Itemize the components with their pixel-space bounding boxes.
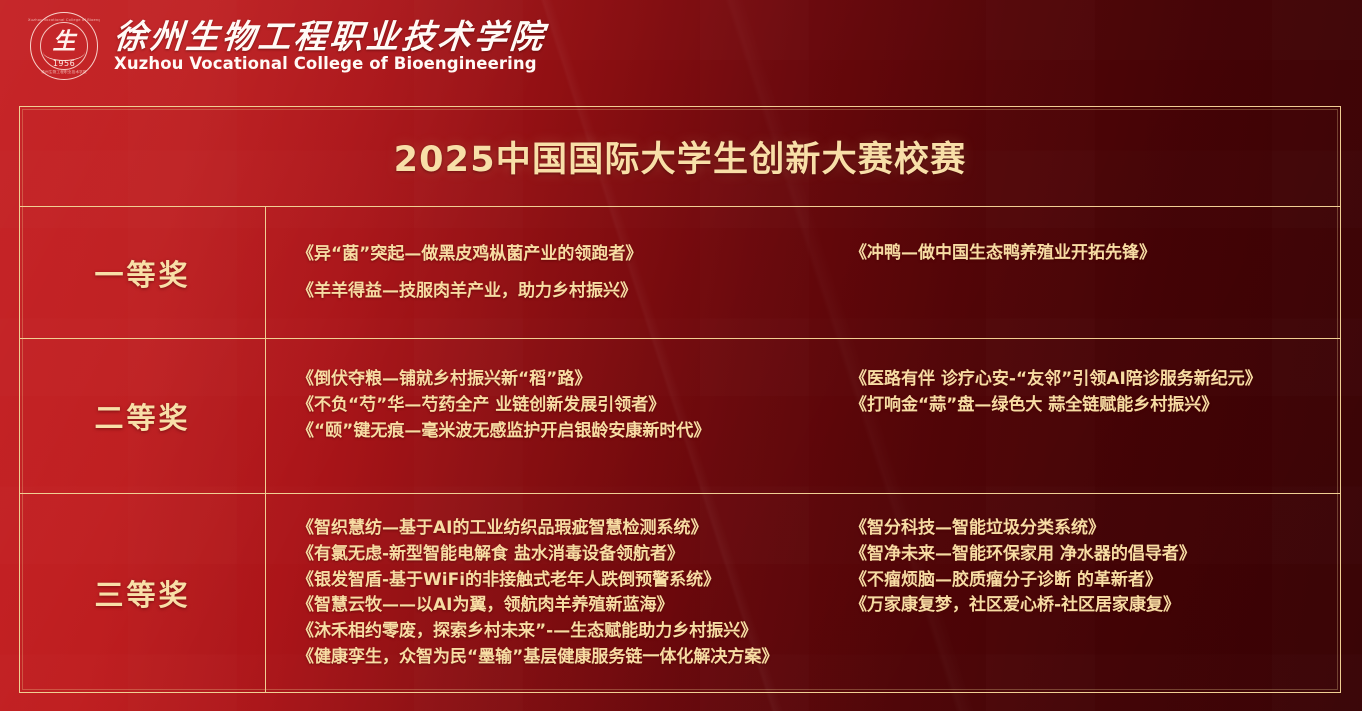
seal-micro-text-top: Xuzhou Vocational College of Bioengineer… [28, 18, 100, 22]
table-row: 二等奖 《倒伏夺粮—铺就乡村振兴新“稻”路》 《不负“芍”华—芍药全产 业链创新… [20, 339, 1340, 494]
rank-cell-second-prize: 二等奖 [20, 339, 266, 493]
award-table: 2025中国国际大学生创新大赛校赛 一等奖 《异“菌”突起—做黑皮鸡枞菌产业的领… [19, 106, 1341, 693]
list-item: 《智织慧纺—基于AI的工业纺织品瑕疵智慧检测系统》 [297, 516, 826, 542]
rank-label: 一等奖 [94, 252, 190, 294]
items-column-right: 《智分科技—智能垃圾分类系统》 《智净未来—智能环保家用 净水器的倡导者》 《不… [826, 494, 1340, 692]
items-column-left: 《倒伏夺粮—铺就乡村振兴新“稻”路》 《不负“芍”华—芍药全产 业链创新发展引领… [266, 339, 826, 493]
list-item: 《冲鸭—做中国生态鸭养殖业开拓先锋》 [850, 245, 1340, 262]
rank-label: 二等奖 [94, 395, 190, 437]
list-item: 《不瘤烦脑—胶质瘤分子诊断 的革新者》 [850, 568, 1340, 594]
seal-glyph: 生 [28, 30, 100, 53]
items-column-left: 《异“菌”突起—做黑皮鸡枞菌产业的领跑者》 《羊羊得益—技服肉羊产业，助力乡村振… [266, 207, 826, 338]
list-item: 《有氯无虑-新型智能电解食 盐水消毒设备领航者》 [297, 542, 826, 568]
list-item: 《不负“芍”华—芍药全产 业链创新发展引领者》 [297, 393, 826, 419]
list-item: 《智慧云牧——以AI为翼，领航肉羊养殖新蓝海》 [297, 593, 826, 619]
list-item: 《智净未来—智能环保家用 净水器的倡导者》 [850, 542, 1340, 568]
list-item: 《万家康复梦，社区爱心桥-社区居家康复》 [850, 593, 1340, 619]
items-cell-second-prize: 《倒伏夺粮—铺就乡村振兴新“稻”路》 《不负“芍”华—芍药全产 业链创新发展引领… [266, 339, 1340, 493]
seal-micro-text-bottom: 徐州生物工程职业技术学院 [28, 70, 100, 75]
college-wordmark: 徐州生物工程职业技术学院 Xuzhou Vocational College o… [114, 19, 546, 74]
list-item: 《沐禾相约零废，探索乡村未来”-—生态赋能助力乡村振兴》 [297, 619, 826, 645]
rank-cell-third-prize: 三等奖 [20, 494, 266, 692]
items-cell-third-prize: 《智织慧纺—基于AI的工业纺织品瑕疵智慧检测系统》 《有氯无虑-新型智能电解食 … [266, 494, 1340, 692]
table-row: 一等奖 《异“菌”突起—做黑皮鸡枞菌产业的领跑者》 《羊羊得益—技服肉羊产业，助… [20, 207, 1340, 339]
rank-cell-first-prize: 一等奖 [20, 207, 266, 338]
items-column-right: 《冲鸭—做中国生态鸭养殖业开拓先锋》 [826, 207, 1340, 338]
list-item: 《“颐”键无痕—毫米波无感监护开启银龄安康新时代》 [297, 419, 826, 445]
college-name-cn: 徐州生物工程职业技术学院 [112, 19, 547, 55]
page-title: 2025中国国际大学生创新大赛校赛 [394, 131, 967, 182]
table-row: 三等奖 《智织慧纺—基于AI的工业纺织品瑕疵智慧检测系统》 《有氯无虑-新型智能… [20, 494, 1340, 692]
items-column-left: 《智织慧纺—基于AI的工业纺织品瑕疵智慧检测系统》 《有氯无虑-新型智能电解食 … [266, 494, 826, 692]
rank-label: 三等奖 [94, 572, 190, 614]
seal-year: 1956 [28, 59, 100, 68]
list-item: 《异“菌”突起—做黑皮鸡枞菌产业的领跑者》 [297, 246, 826, 263]
college-name-en: Xuzhou Vocational College of Bioengineer… [114, 55, 546, 73]
award-table-title-row: 2025中国国际大学生创新大赛校赛 [20, 107, 1340, 207]
list-item: 《倒伏夺粮—铺就乡村振兴新“稻”路》 [297, 367, 826, 393]
list-item: 《医路有伴 诊疗心安-“友邻”引领AI陪诊服务新纪元》 [850, 367, 1340, 393]
items-column-right: 《医路有伴 诊疗心安-“友邻”引领AI陪诊服务新纪元》 《打响金“蒜”盘—绿色大… [826, 339, 1340, 493]
list-item: 《银发智盾-基于WiFi的非接触式老年人跌倒预警系统》 [297, 568, 826, 594]
college-header: Xuzhou Vocational College of Bioengineer… [28, 10, 546, 82]
list-item: 《健康孪生，众智为民“墨输”基层健康服务链一体化解决方案》 [297, 645, 826, 671]
items-cell-first-prize: 《异“菌”突起—做黑皮鸡枞菌产业的领跑者》 《羊羊得益—技服肉羊产业，助力乡村振… [266, 207, 1340, 338]
list-item: 《羊羊得益—技服肉羊产业，助力乡村振兴》 [297, 283, 826, 300]
list-item: 《智分科技—智能垃圾分类系统》 [850, 516, 1340, 542]
college-seal-icon: Xuzhou Vocational College of Bioengineer… [28, 10, 100, 82]
list-item: 《打响金“蒜”盘—绿色大 蒜全链赋能乡村振兴》 [850, 393, 1340, 419]
